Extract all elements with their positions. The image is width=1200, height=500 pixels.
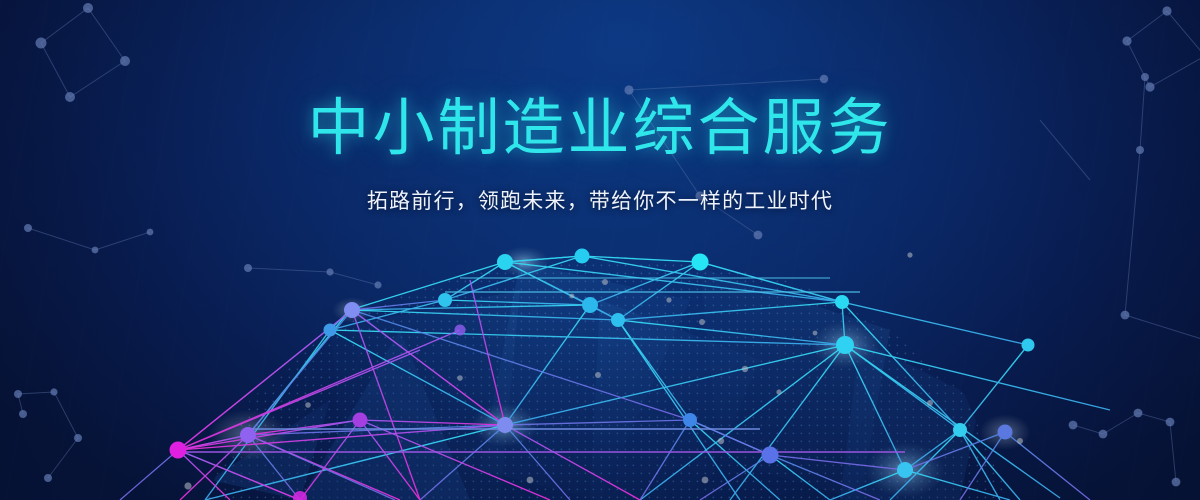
hero-banner: 中小制造业综合服务 拓路前行，领跑未来，带给你不一样的工业时代 (0, 0, 1200, 500)
node-halos (208, 246, 1031, 498)
network-dome-graphic (0, 0, 1200, 500)
mesh-edges-magenta (178, 280, 640, 500)
mesh-horizontal-lines (178, 278, 905, 452)
